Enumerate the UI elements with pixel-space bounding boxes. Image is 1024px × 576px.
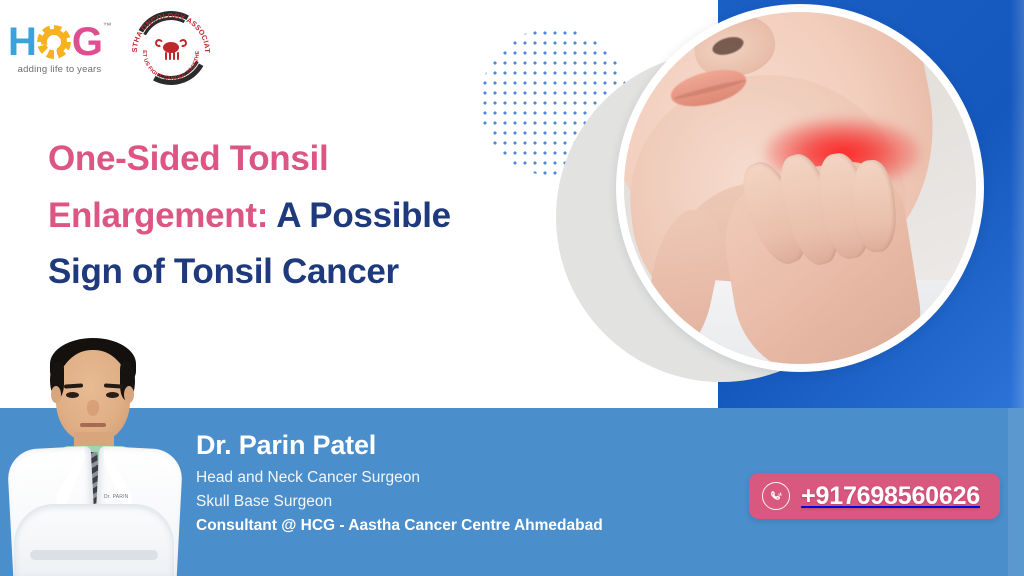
hcg-sunburst-c-icon xyxy=(36,24,72,60)
headline-navy-line3: Sign of Tonsil Cancer xyxy=(48,252,399,291)
doctor-consultant-line: Consultant @ HCG - Aastha Cancer Centre … xyxy=(196,514,603,538)
doctor-role-1: Head and Neck Cancer Surgeon xyxy=(196,466,603,490)
footer-edge-highlight xyxy=(1008,408,1024,576)
doctor-info-block: Dr. Parin Patel Head and Neck Cancer Sur… xyxy=(196,430,603,538)
phone-number-text: +917698560626 xyxy=(801,482,980,511)
phone-cta-badge[interactable]: +917698560626 xyxy=(749,473,1000,519)
hcg-letter-g: G xyxy=(72,22,102,62)
doctor-portrait: Dr. PARIN HCG xyxy=(4,328,182,576)
doctor-role-2: Skull Base Surgeon xyxy=(196,490,603,514)
marketing-banner: H G ™ adding life to years AASTHA xyxy=(0,0,1024,576)
aastha-oncology-logo[interactable]: AASTHA ONCOLOGY ASSOCIATES LET US FIGHT … xyxy=(129,6,213,90)
hero-photo-image xyxy=(624,12,976,364)
logo-group: H G ™ adding life to years AASTHA xyxy=(8,6,213,90)
page-title: One-Sided Tonsil Enlargement: A Possible… xyxy=(48,131,568,301)
hero-panel-edge-highlight xyxy=(1010,0,1024,412)
phone-call-icon xyxy=(762,482,790,510)
doctor-name: Dr. Parin Patel xyxy=(196,430,603,461)
hcg-letter-h: H xyxy=(8,22,36,62)
headline-pink-line2: Enlargement: xyxy=(48,196,268,235)
hcg-tagline: adding life to years xyxy=(18,64,102,75)
headline-navy-line2: A Possible xyxy=(268,196,451,235)
trademark-symbol: ™ xyxy=(103,22,111,31)
crab-icon xyxy=(155,36,187,62)
hcg-logo[interactable]: H G ™ adding life to years xyxy=(8,22,111,75)
hero-photo-circle xyxy=(624,12,976,364)
hcg-logo-mark: H G ™ xyxy=(8,22,111,62)
coat-badge-text: Dr. PARIN xyxy=(104,494,129,500)
headline-pink-line1: One-Sided Tonsil xyxy=(48,139,328,178)
